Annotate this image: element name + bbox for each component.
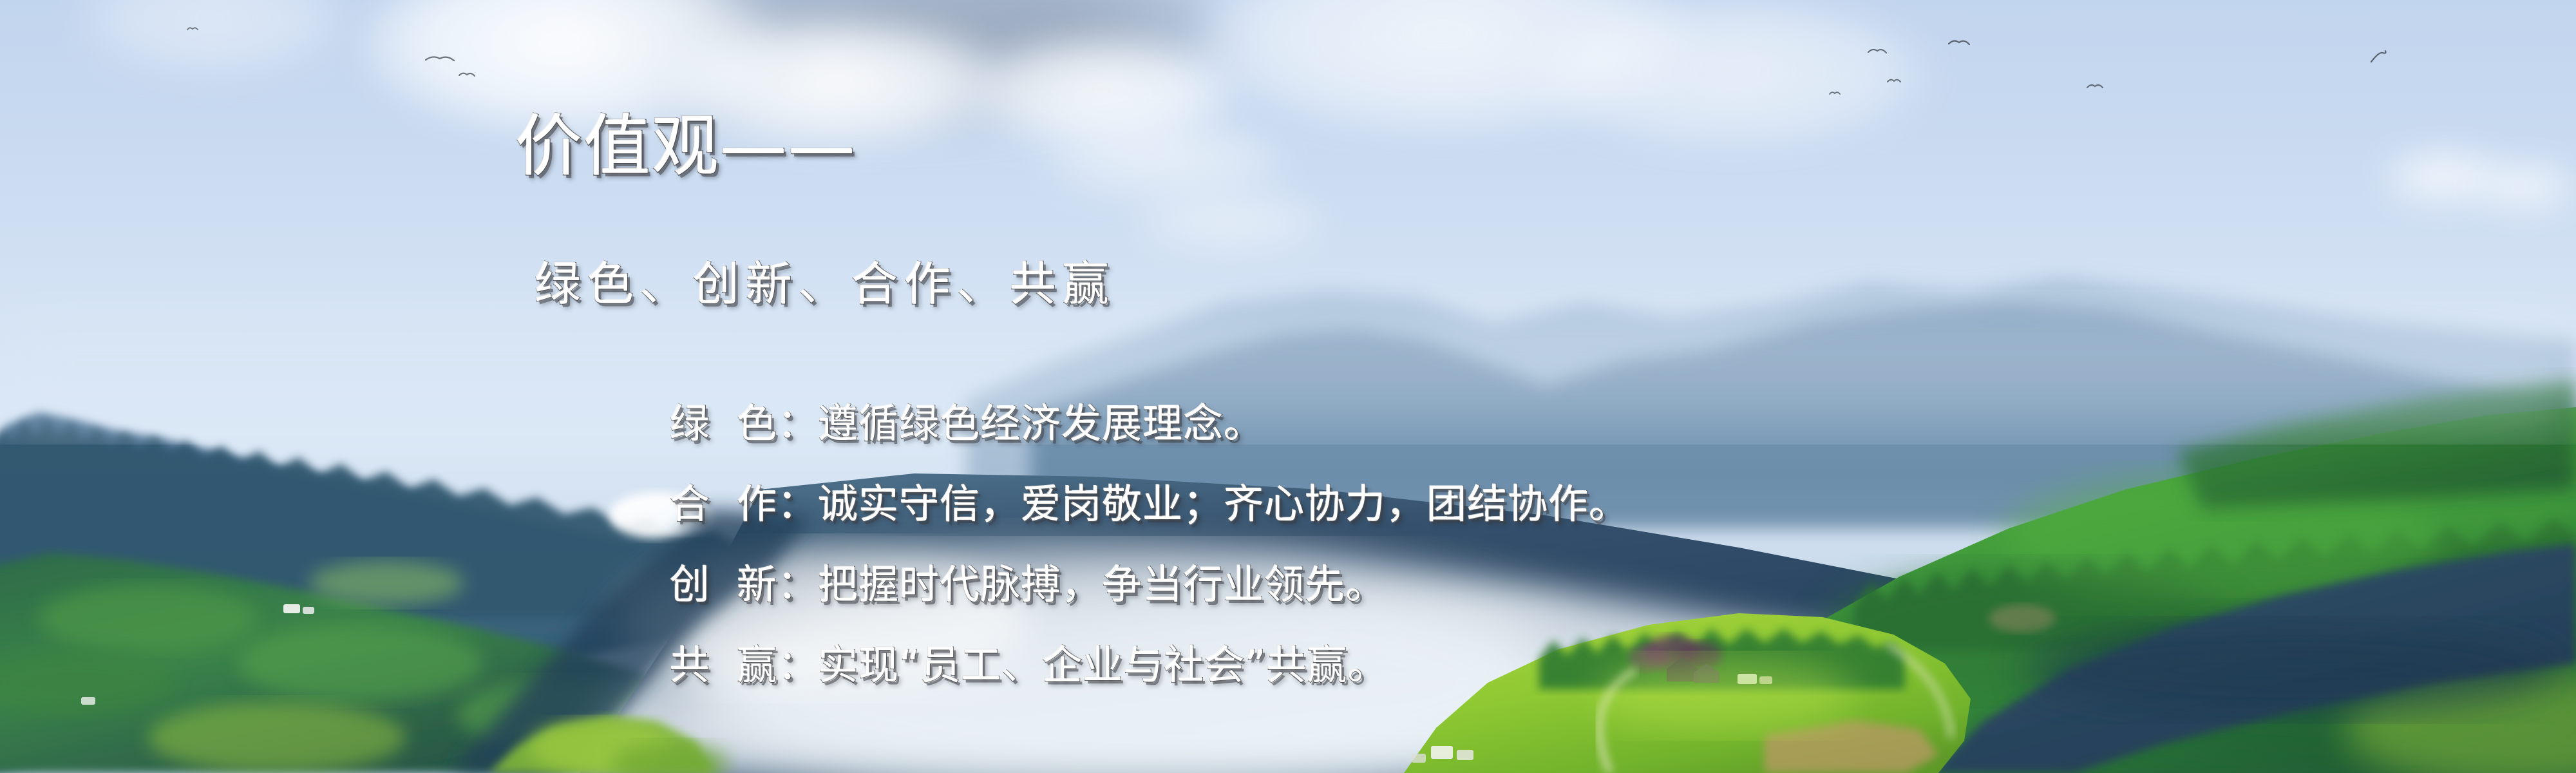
value-line-cooperation: 合 作：诚实守信，爱岗敬业；齐心协力，团结协作。 [670,464,1629,544]
value-banner: 价值观—— 绿色、创新、合作、共赢 绿 色：遵循绿色经济发展理念。 合 作：诚实… [0,0,2576,773]
text-overlay: 价值观—— 绿色、创新、合作、共赢 绿 色：遵循绿色经济发展理念。 合 作：诚实… [0,0,2576,773]
value-line-green: 绿 色：遵循绿色经济发展理念。 [670,383,1629,464]
page-title: 价值观—— [515,113,857,180]
banner-subtitle: 绿色、创新、合作、共赢 [535,261,1115,307]
value-list: 绿 色：遵循绿色经济发展理念。 合 作：诚实守信，爱岗敬业；齐心协力，团结协作。… [670,383,1629,705]
value-line-winwin: 共 赢：实现“员工、企业与社会”共赢。 [670,625,1629,705]
value-line-innovation: 创 新：把握时代脉搏，争当行业领先。 [670,544,1629,625]
